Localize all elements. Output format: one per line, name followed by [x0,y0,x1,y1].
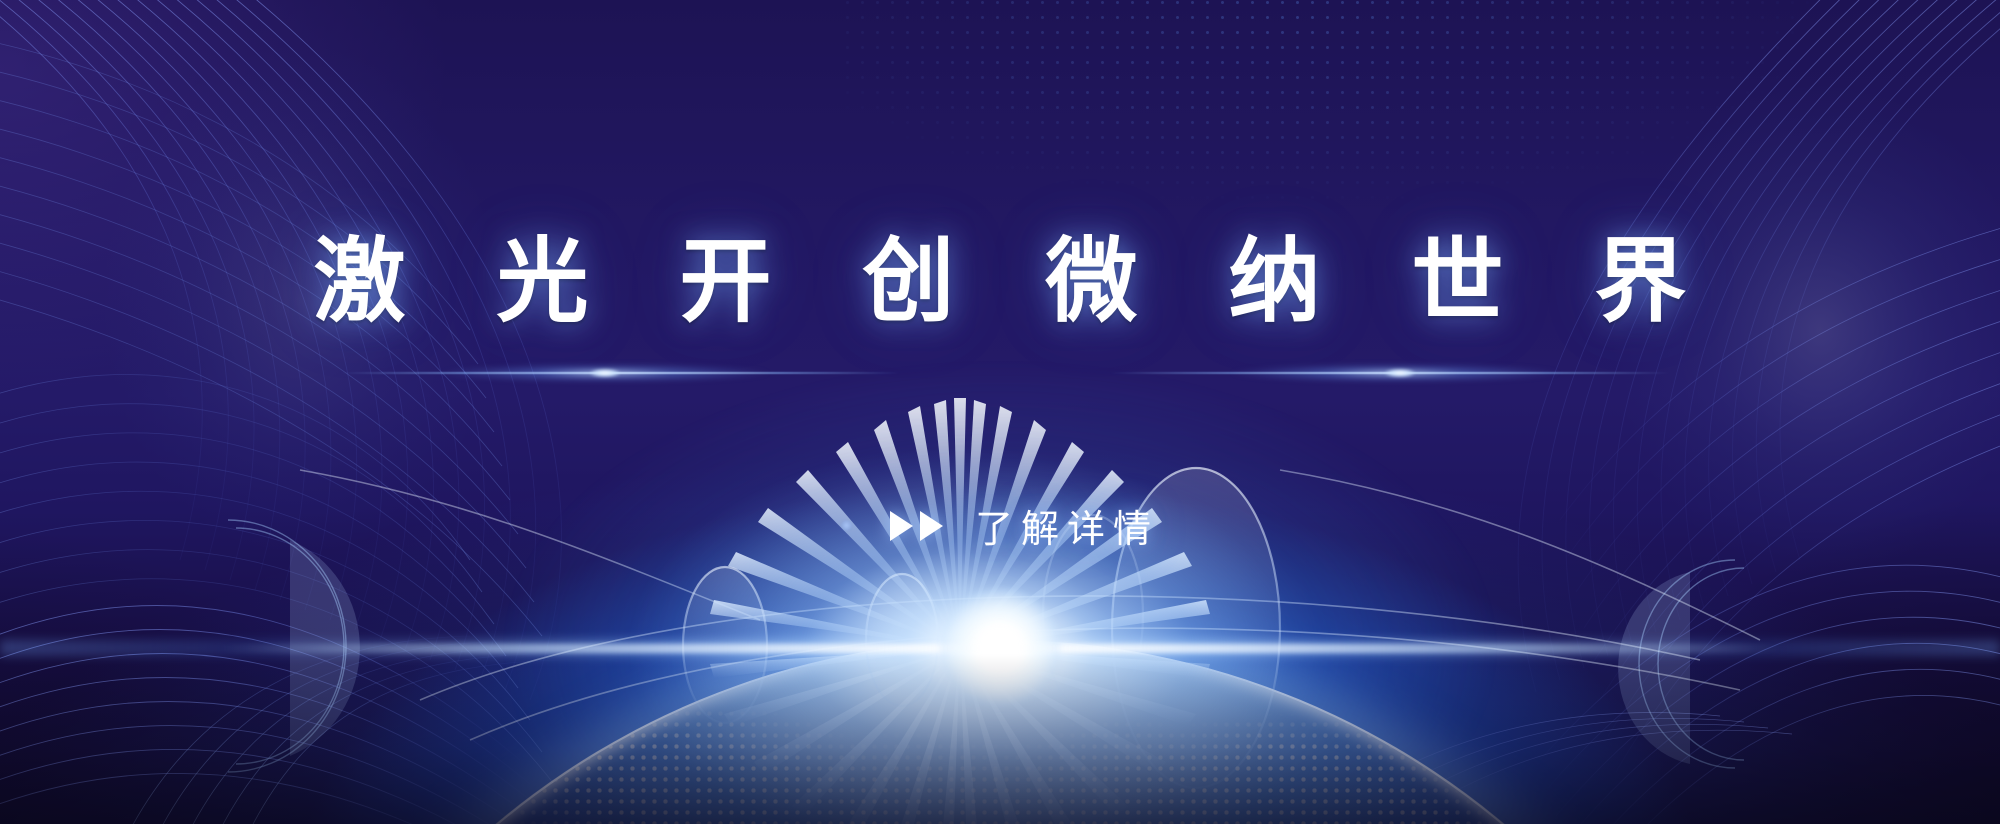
play-arrow-icon [920,511,943,541]
double-arrow-icon [890,511,943,541]
hero-banner: 激 光 开 创 微 纳 世 界 了解详情 [0,0,2000,824]
globe-sphere [220,642,1780,824]
learn-more-cta[interactable]: 了解详情 [0,498,2000,553]
horizon-light-beam [0,640,2000,656]
bottom-fade-overlay [0,654,2000,824]
burst-halo [480,348,1520,824]
bokeh-dot-icon [841,520,852,531]
corner-vignette [0,0,2000,824]
globe-shading [220,642,1780,824]
play-arrow-icon [890,511,913,541]
dotted-world-globe-icon [0,0,2000,824]
page-title: 激 光 开 创 微 纳 世 界 [0,236,2000,328]
learn-more-label[interactable]: 了解详情 [967,498,1159,553]
globe-rim-highlight [216,640,1784,824]
light-burst-sunrise-icon [0,0,2000,824]
background-gradient [0,0,2000,824]
globe-continent-dots [220,642,1780,824]
wireframe-mesh-right-icon [0,0,2000,824]
burst-glow-layer [0,0,2000,824]
horizontal-lens-streaks-icon [0,360,2000,386]
wireframe-mesh-left-icon [0,0,2000,824]
